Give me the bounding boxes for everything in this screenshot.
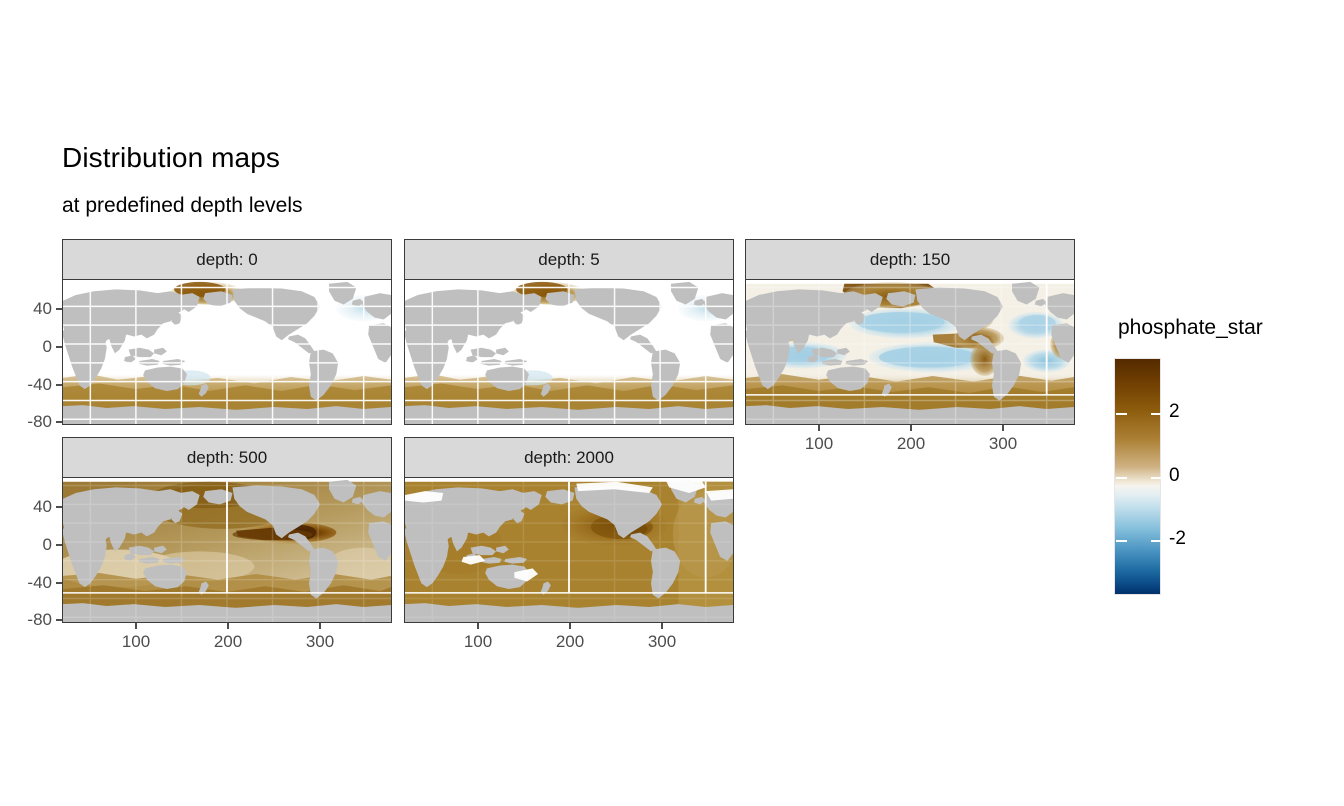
- legend-tick-0-left: [1116, 477, 1127, 479]
- map-panel-depth-150[interactable]: [745, 279, 1075, 425]
- legend-title: phosphate_star: [1118, 316, 1263, 340]
- x-tick-mark: [135, 623, 137, 629]
- facet-strip-depth-5: depth: 5: [404, 239, 734, 280]
- x-tick-label-300: 300: [977, 434, 1029, 454]
- map-plot-depth-2000: [405, 478, 733, 622]
- facet-depth-2000: depth: 2000: [404, 437, 734, 623]
- legend-label-2: 2: [1169, 401, 1180, 423]
- facet-strip-label: depth: 0: [196, 250, 257, 270]
- x-tick-mark: [319, 623, 321, 629]
- x-tick-label-100: 100: [793, 434, 845, 454]
- map-panel-depth-5[interactable]: [404, 279, 734, 425]
- map-plot-depth-500: [63, 478, 391, 622]
- facet-depth-150: depth: 150: [745, 239, 1075, 425]
- x-tick-mark: [818, 425, 820, 431]
- x-tick-mark: [910, 425, 912, 431]
- x-tick-label-200: 200: [202, 632, 254, 652]
- facet-strip-depth-2000: depth: 2000: [404, 437, 734, 478]
- map-plot-depth-0: [63, 280, 391, 424]
- legend-label-0: 0: [1169, 465, 1180, 487]
- y-tick-label-row2--80: -80: [8, 610, 52, 630]
- y-tick-label-row2-0: 0: [14, 535, 52, 555]
- map-plot-depth-5: [405, 280, 733, 424]
- facet-depth-500: depth: 500: [62, 437, 392, 623]
- facet-strip-label: depth: 5: [538, 250, 599, 270]
- y-tick-label-row1-0: 0: [14, 337, 52, 357]
- y-tick-label-row1--40: -40: [8, 375, 52, 395]
- legend-tick--2-right: [1151, 540, 1163, 542]
- map-panel-depth-500[interactable]: [62, 477, 392, 623]
- map-panel-depth-0[interactable]: [62, 279, 392, 425]
- x-tick-label-100: 100: [452, 632, 504, 652]
- facet-strip-label: depth: 500: [187, 448, 267, 468]
- x-tick-label-300: 300: [636, 632, 688, 652]
- legend-tick-2-right: [1151, 413, 1163, 415]
- legend-tick-0-right: [1151, 477, 1163, 479]
- facet-depth-5: depth: 5: [404, 239, 734, 425]
- y-tick-label-row1--80: -80: [8, 412, 52, 432]
- y-tick-label-row2-40: 40: [14, 497, 52, 517]
- facet-depth-0: depth: 0: [62, 239, 392, 425]
- x-tick-label-200: 200: [544, 632, 596, 652]
- facet-strip-label: depth: 150: [870, 250, 950, 270]
- legend-tick--2-left: [1116, 540, 1127, 542]
- x-tick-label-300: 300: [294, 632, 346, 652]
- legend-tick-2-left: [1116, 413, 1127, 415]
- page-subtitle: at predefined depth levels: [62, 194, 303, 218]
- facet-strip-depth-500: depth: 500: [62, 437, 392, 478]
- legend-colorbar: [1114, 358, 1161, 595]
- x-tick-mark: [569, 623, 571, 629]
- plot-root: Distribution maps at predefined depth le…: [0, 0, 1344, 806]
- x-tick-mark: [661, 623, 663, 629]
- facet-strip-label: depth: 2000: [524, 448, 614, 468]
- map-panel-depth-2000[interactable]: [404, 477, 734, 623]
- map-plot-depth-150: [746, 280, 1074, 424]
- facet-strip-depth-150: depth: 150: [745, 239, 1075, 280]
- x-tick-label-200: 200: [885, 434, 937, 454]
- x-tick-label-100: 100: [110, 632, 162, 652]
- x-tick-mark: [227, 623, 229, 629]
- x-tick-mark: [1002, 425, 1004, 431]
- facet-strip-depth-0: depth: 0: [62, 239, 392, 280]
- y-tick-label-row1-40: 40: [14, 299, 52, 319]
- page-title: Distribution maps: [62, 142, 280, 174]
- legend-label--2: -2: [1169, 528, 1186, 550]
- x-tick-mark: [477, 623, 479, 629]
- y-tick-label-row2--40: -40: [8, 573, 52, 593]
